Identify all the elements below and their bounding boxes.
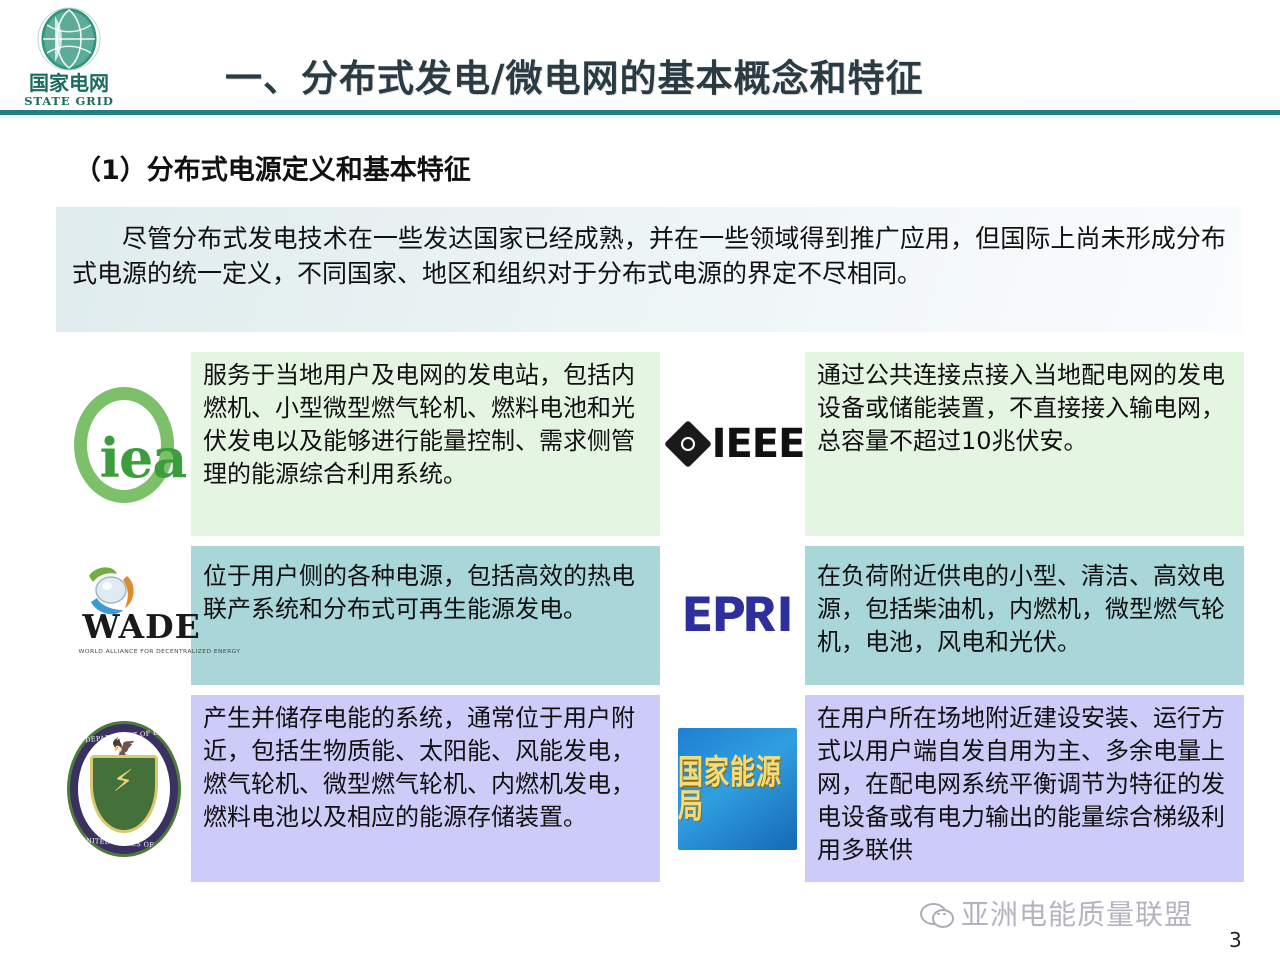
wade-logo: WADE WORLD ALLIANCE FOR DECENTRALIZED EN… [65,558,183,674]
wechat-bubble-small [932,909,954,928]
wade-definition-text: 位于用户侧的各种电源，包括高效的热电联产系统和分布式可再生能源发电。 [191,546,660,685]
state-grid-logo-en: STATE GRID [24,96,114,108]
state-grid-logo-cn: 国家电网 [29,73,109,93]
wade-logo-cell: WADE WORLD ALLIANCE FOR DECENTRALIZED EN… [56,546,191,685]
nea-logo-cell: 国家能源局 [670,695,805,882]
section-subtitle: （1）分布式电源定义和基本特征 [74,148,471,187]
ieee-logo-word: IEEE [712,424,805,464]
doe-seal-ring-text: DEPARTMENT OF ENERGY UNITED STATES OF AM… [63,715,185,863]
doe-seal-logo: 🦅 ⚡ DEPARTMENT OF ENERGY UNITED STATES O… [63,715,185,863]
wechat-dot-left [937,913,940,916]
page-title: 一、分布式发电/微电网的基本概念和特征 [225,48,924,102]
ieee-logo-cell: IEEE [670,352,805,536]
doe-logo-cell: 🦅 ⚡ DEPARTMENT OF ENERGY UNITED STATES O… [56,695,191,882]
definition-card-epri: EPIЯ 在负荷附近供电的小型、清洁、高效电源，包括柴油机，内燃机，微型燃气轮机… [670,546,1244,685]
nea-logo: 国家能源局 [678,728,797,850]
doe-definition-text: 产生并储存电能的系统，通常位于用户附近，包括生物质能、太阳能、风能发电，燃气轮机… [191,695,660,882]
watermark-text: 亚洲电能质量联盟 [961,893,1193,933]
ieee-logo: IEEE [671,424,805,464]
header-divider-soft [0,115,1280,118]
wade-logo-word: WADE [83,610,201,643]
wechat-bubble-large [920,903,947,925]
definition-card-iea: iea 服务于当地用户及电网的发电站，包括内燃机、小型微型燃气轮机、燃料电池和光… [56,352,660,536]
wechat-icon [920,900,954,927]
intro-paragraph-text: 尽管分布式发电技术在一些发达国家已经成熟，并在一些领域得到推广应用，但国际上尚未… [72,221,1226,291]
definition-card-doe: 🦅 ⚡ DEPARTMENT OF ENERGY UNITED STATES O… [56,695,660,882]
card-row: WADE WORLD ALLIANCE FOR DECENTRALIZED EN… [56,546,1244,685]
epri-logo-flipped-r: IЯ [744,592,794,639]
epri-definition-text: 在负荷附近供电的小型、清洁、高效电源，包括柴油机，内燃机，微型燃气轮机，电池，风… [805,546,1244,685]
page-number: 3 [1229,928,1242,952]
card-row: iea 服务于当地用户及电网的发电站，包括内燃机、小型微型燃气轮机、燃料电池和光… [56,352,1244,536]
iea-definition-text: 服务于当地用户及电网的发电站，包括内燃机、小型微型燃气轮机、燃料电池和光伏发电以… [191,352,660,536]
iea-logo: iea [64,369,184,519]
wechat-dot-right [943,913,946,916]
card-row: 🦅 ⚡ DEPARTMENT OF ENERGY UNITED STATES O… [56,695,1244,882]
watermark: 亚洲电能质量联盟 [920,893,1193,933]
ieee-definition-text: 通过公共连接点接入当地配电网的发电设备或储能装置，不直接接入输电网，总容量不超过… [805,352,1244,536]
nea-logo-word: 国家能源局 [678,755,797,823]
iea-logo-word: iea [100,431,187,485]
slide-header: 国家电网 STATE GRID 一、分布式发电/微电网的基本概念和特征 [0,0,1280,116]
doe-seal-top-text: DEPARTMENT OF ENERGY [84,725,184,743]
iea-logo-cell: iea [56,352,191,536]
ieee-diamond-icon [664,420,712,468]
state-grid-globe-logo [33,6,105,72]
definition-card-wade: WADE WORLD ALLIANCE FOR DECENTRALIZED EN… [56,546,660,685]
definition-card-grid: iea 服务于当地用户及电网的发电站，包括内燃机、小型微型燃气轮机、燃料电池和光… [56,352,1244,892]
doe-seal-bottom-text: UNITED STATES OF AMERICA [79,836,192,852]
wade-logo-tagline: WORLD ALLIANCE FOR DECENTRALIZED ENERGY [79,648,241,654]
definition-card-ieee: IEEE 通过公共连接点接入当地配电网的发电设备或储能装置，不直接接入输电网，总… [670,352,1244,536]
definition-card-nea: 国家能源局 在用户所在场地附近建设安装、运行方式以用户端自发自用为主、多余电量上… [670,695,1244,882]
intro-paragraph-box: 尽管分布式发电技术在一些发达国家已经成熟，并在一些领域得到推广应用，但国际上尚未… [56,207,1242,332]
epri-logo: EPIЯ [681,592,793,639]
state-grid-logo: 国家电网 STATE GRID [13,6,125,110]
epri-logo-cell: EPIЯ [670,546,805,685]
nea-definition-text: 在用户所在场地附近建设安装、运行方式以用户端自发自用为主、多余电量上网，在配电网… [805,695,1244,882]
